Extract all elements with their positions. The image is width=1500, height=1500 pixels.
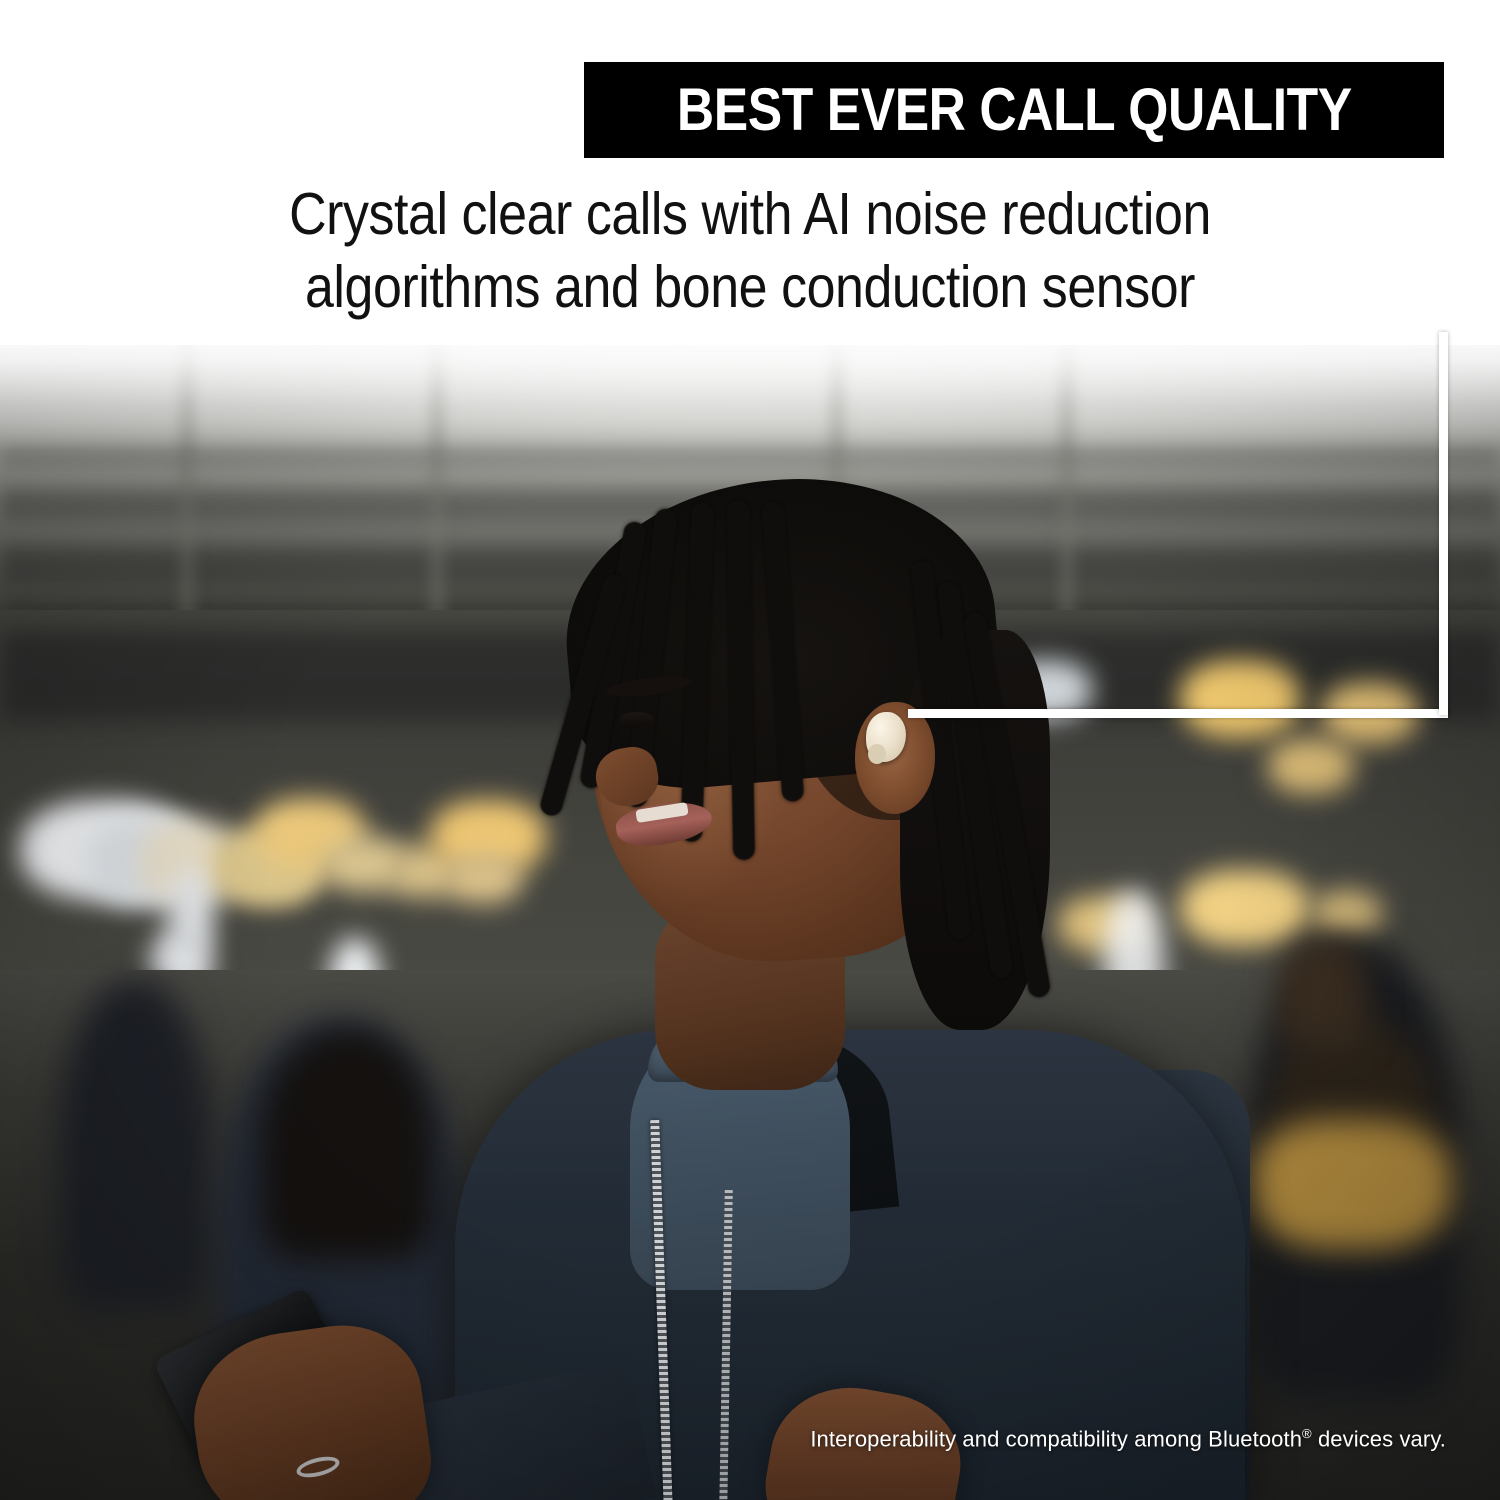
subheadline-line-1: Crystal clear calls with AI noise reduct…	[125, 178, 1375, 251]
footnote-text-after: devices vary.	[1312, 1426, 1446, 1451]
callout-vertical-segment	[1439, 332, 1448, 715]
footnote-text-before: Interoperability and compatibility among…	[810, 1426, 1302, 1451]
subheadline: Crystal clear calls with AI noise reduct…	[40, 178, 1460, 323]
registered-trademark-mark: ®	[1302, 1426, 1312, 1441]
eye	[620, 712, 654, 727]
headline-text: BEST EVER CALL QUALITY	[677, 80, 1352, 140]
callout-horizontal-segment	[908, 709, 1448, 718]
product-feature-banner: { "headline": { "text": "BEST EVER CALL …	[0, 0, 1500, 1500]
subject-figure	[0, 330, 1500, 1500]
photo-content	[0, 330, 1500, 1500]
hero-photograph	[0, 330, 1500, 1500]
header-text-area: BEST EVER CALL QUALITY Crystal clear cal…	[0, 0, 1500, 345]
headline-banner: BEST EVER CALL QUALITY	[584, 62, 1444, 158]
legal-footnote: Interoperability and compatibility among…	[810, 1426, 1446, 1452]
subheadline-line-2: algorithms and bone conduction sensor	[125, 251, 1375, 324]
earbud-tip	[868, 744, 886, 764]
